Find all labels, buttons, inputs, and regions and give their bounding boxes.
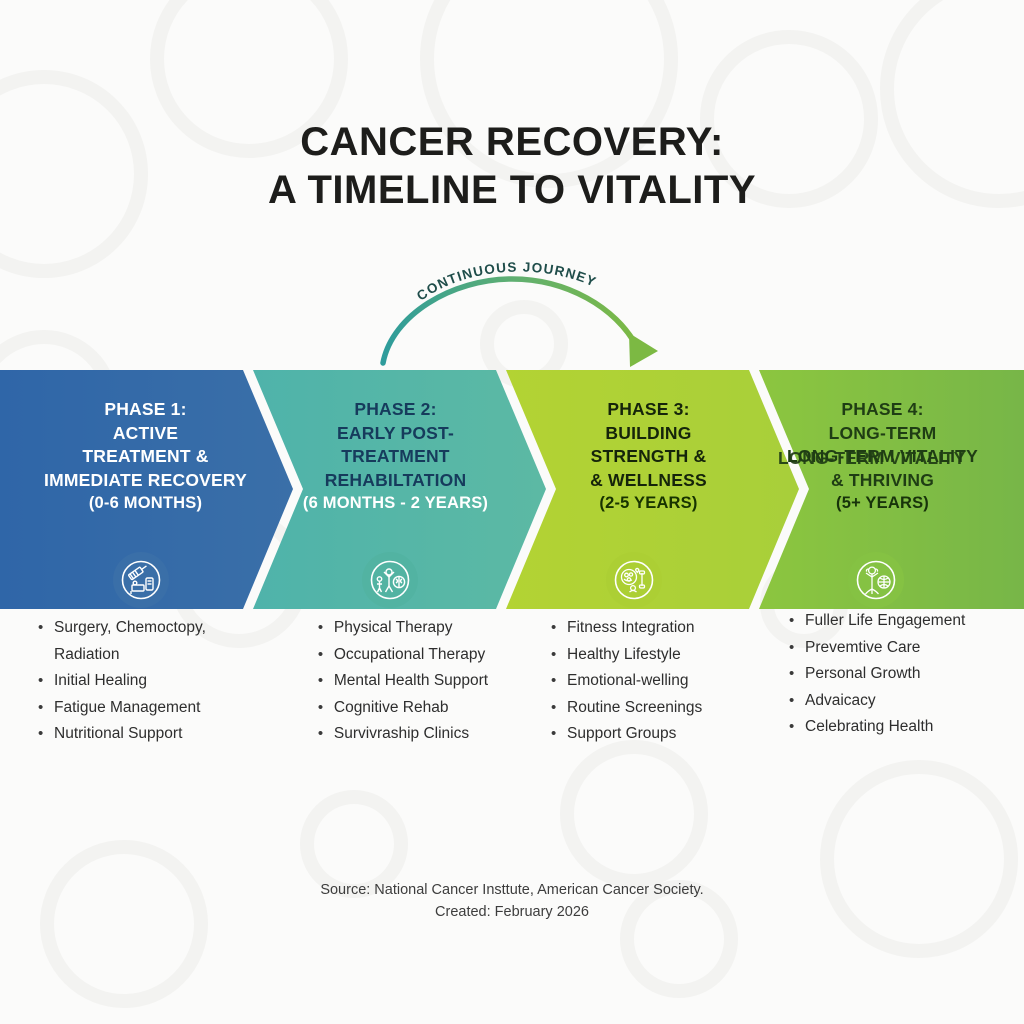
list-item: Survivraship Clinics [318, 721, 488, 748]
title-line-1: CANCER RECOVERY: [0, 118, 1024, 166]
list-item: Occupational Therapy [318, 642, 488, 669]
phase-3-duration: (2-5 YEARS) [521, 492, 776, 516]
phase-1-title-line: TREATMENT & [18, 445, 273, 469]
list-item: Prevemtive Care [789, 635, 1014, 662]
phase-3-bullets: Fitness IntegrationHealthy LifestyleEmot… [551, 615, 771, 748]
footer-created: Created: February 2026 [0, 901, 1024, 923]
nutrition-fitness-plate-icon [606, 552, 662, 608]
phase-4-label: PHASE 4:LONG-TERMLONG-TERM VITALITY& THR… [765, 398, 1000, 516]
phase-3-label: PHASE 3:BUILDINGSTRENGTH && WELLNESS(2-5… [521, 398, 776, 516]
phase-2-duration: (6 MONTHS - 2 YEARS) [268, 492, 523, 516]
continuous-journey-arc: CONTINUOUS JOURNEY [0, 255, 1024, 370]
title-line-2: A TIMELINE TO VITALITY [0, 166, 1024, 214]
list-item: Cognitive Rehab [318, 695, 488, 722]
list-item: Initial Healing [38, 668, 253, 695]
phase-2-bullets: Physical TherapyOccupational TherapyMent… [288, 615, 518, 748]
list-item: Celebrating Health [789, 714, 1014, 741]
phase-2-eyebrow: PHASE 2: [268, 398, 523, 422]
list-item: Surgery, Chemoctopy, Radiation [38, 615, 253, 668]
phase-3-title-line: STRENGTH & [521, 445, 776, 469]
page-title: CANCER RECOVERY: A TIMELINE TO VITALITY [0, 118, 1024, 214]
list-item: Mental Health Support [318, 668, 488, 695]
phase-2-title-line: TREATMENT [268, 445, 523, 469]
phase-1-bullets: Surgery, Chemoctopy, RadiationInitial He… [38, 615, 253, 748]
list-item: Advaicacy [789, 688, 1014, 715]
phase-3-title-line: BUILDING [521, 422, 776, 446]
list-item: Personal Growth [789, 661, 1014, 688]
phase-4-eyebrow: PHASE 4: [765, 398, 1000, 422]
list-item: Fitness Integration [551, 615, 771, 642]
footer: Source: National Cancer Insttute, Americ… [0, 879, 1024, 923]
phase-4-duration: (5+ YEARS) [765, 492, 1000, 516]
phase-3-eyebrow: PHASE 3: [521, 398, 776, 422]
rehabilitation-person-brain-icon [362, 552, 418, 608]
phase-2-title-line: REHABILTATION [268, 469, 523, 493]
phase-1-duration: (0-6 MONTHS) [18, 492, 273, 516]
tree-person-globe-icon [848, 552, 904, 608]
background-ring [560, 740, 708, 888]
list-item: Routine Screenings [551, 695, 771, 722]
list-item: Physical Therapy [318, 615, 488, 642]
list-item: Nutritional Support [38, 721, 253, 748]
background-ring [820, 760, 1018, 958]
list-item: Fatigue Management [38, 695, 253, 722]
list-item: Support Groups [551, 721, 771, 748]
phase-4-title-line: LONG-TERM VITALITY [765, 445, 1000, 469]
background-ring [40, 840, 208, 1008]
phase-2-title-line: EARLY POST- [268, 422, 523, 446]
phase-1-label: PHASE 1:ACTIVETREATMENT &IMMEDIATE RECOV… [18, 398, 273, 516]
list-item: Healthy Lifestyle [551, 642, 771, 669]
list-item: Emotional-welling [551, 668, 771, 695]
phase-4-title-line: & THRIVING [765, 469, 1000, 493]
syringe-hospital-bed-icon [113, 552, 169, 608]
phase-4-title-line: LONG-TERM [765, 422, 1000, 446]
list-item: Fuller Life Engagement [789, 608, 1014, 635]
phase-4-bullets: Fuller Life EngagementPrevemtive CarePer… [789, 608, 1014, 741]
phase-1-eyebrow: PHASE 1: [18, 398, 273, 422]
phase-1-title-line: ACTIVE [18, 422, 273, 446]
phase-3-title-line: & WELLNESS [521, 469, 776, 493]
phase-2-label: PHASE 2:EARLY POST-TREATMENTREHABILTATIO… [268, 398, 523, 516]
phase-1-title-line: IMMEDIATE RECOVERY [18, 469, 273, 493]
footer-source: Source: National Cancer Insttute, Americ… [0, 879, 1024, 901]
